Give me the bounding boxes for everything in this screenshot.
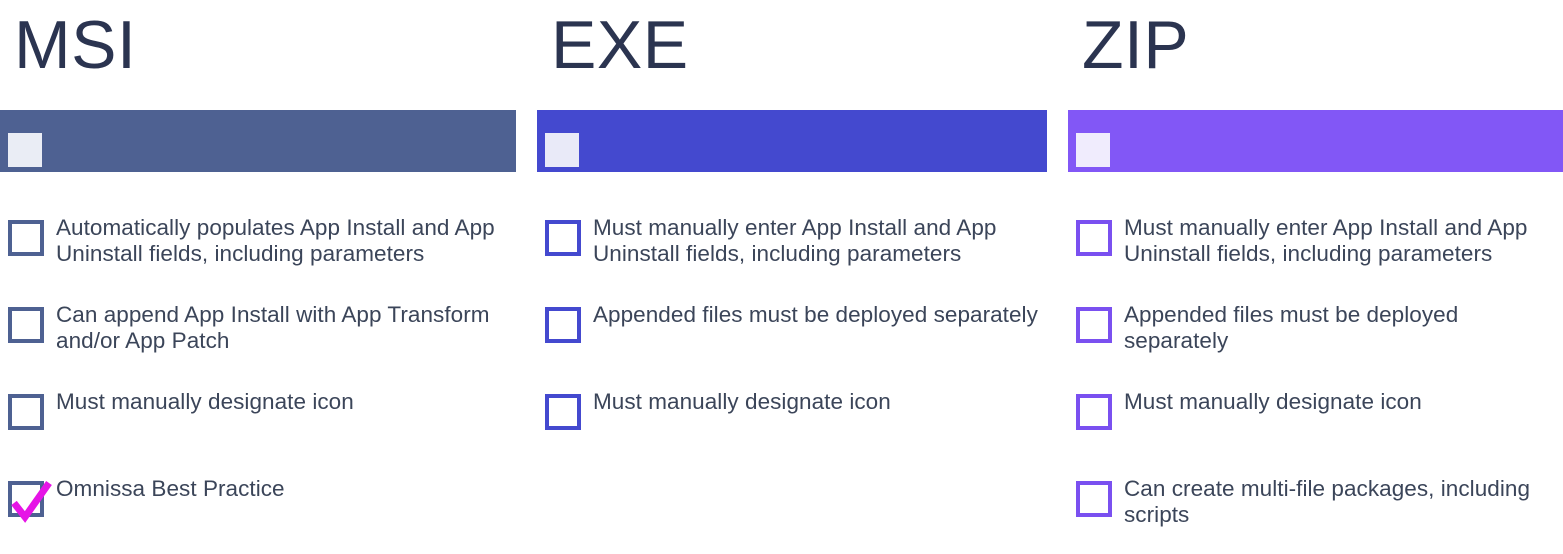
checkbox-icon[interactable] [8,481,44,517]
list-item-label: Automatically populates App Install and … [56,215,512,267]
column-header-bar-exe [537,110,1047,172]
list-item-label: Must manually designate icon [56,389,512,415]
list-item-label: Appended files must be deployed separate… [593,302,1043,328]
list-item-label: Omnissa Best Practice [56,476,512,502]
list-item-label: Must manually designate icon [593,389,1043,415]
list-item-label: Appended files must be deployed separate… [1124,302,1559,354]
list-item[interactable]: Can create multi-file packages, includin… [1068,467,1563,554]
list-item[interactable]: Can append App Install with App Transfor… [0,293,516,380]
checkbox-icon[interactable] [1076,394,1112,430]
checkbox-icon[interactable] [1076,220,1112,256]
checklist-exe: Must manually enter App Install and App … [537,206,1047,467]
header-chip-icon [545,133,579,167]
list-item-label: Can create multi-file packages, includin… [1124,476,1559,528]
list-item-label: Can append App Install with App Transfor… [56,302,512,354]
list-item[interactable]: Must manually enter App Install and App … [537,206,1047,293]
list-item-label: Must manually designate icon [1124,389,1559,415]
list-item[interactable]: Appended files must be deployed separate… [537,293,1047,380]
column-title-zip: ZIP [1082,6,1189,84]
comparison-board: MSI Automatically populates App Install … [0,0,1563,544]
header-chip-icon [1076,133,1110,167]
checkbox-icon[interactable] [1076,307,1112,343]
checkbox-icon[interactable] [545,220,581,256]
checkbox-icon[interactable] [1076,481,1112,517]
list-item[interactable]: Omnissa Best Practice [0,467,516,554]
checkbox-icon[interactable] [545,394,581,430]
header-chip-icon [8,133,42,167]
column-msi: MSI Automatically populates App Install … [0,0,516,544]
checkbox-icon[interactable] [8,394,44,430]
checkbox-icon[interactable] [545,307,581,343]
list-item[interactable]: Automatically populates App Install and … [0,206,516,293]
column-exe: EXE Must manually enter App Install and … [537,0,1047,544]
list-item[interactable]: Appended files must be deployed separate… [1068,293,1563,380]
list-item[interactable]: Must manually enter App Install and App … [1068,206,1563,293]
list-item[interactable]: Must manually designate icon [1068,380,1563,467]
column-header-bar-msi [0,110,516,172]
column-header-bar-zip [1068,110,1563,172]
list-item[interactable]: Must manually designate icon [0,380,516,467]
checkbox-icon[interactable] [8,307,44,343]
list-item[interactable]: Must manually designate icon [537,380,1047,467]
checklist-msi: Automatically populates App Install and … [0,206,516,554]
list-item-label: Must manually enter App Install and App … [1124,215,1559,267]
list-item-label: Must manually enter App Install and App … [593,215,1043,267]
column-title-msi: MSI [14,6,136,84]
column-zip: ZIP Must manually enter App Install and … [1068,0,1563,544]
checklist-zip: Must manually enter App Install and App … [1068,206,1563,554]
checkbox-icon[interactable] [8,220,44,256]
column-title-exe: EXE [551,6,689,84]
